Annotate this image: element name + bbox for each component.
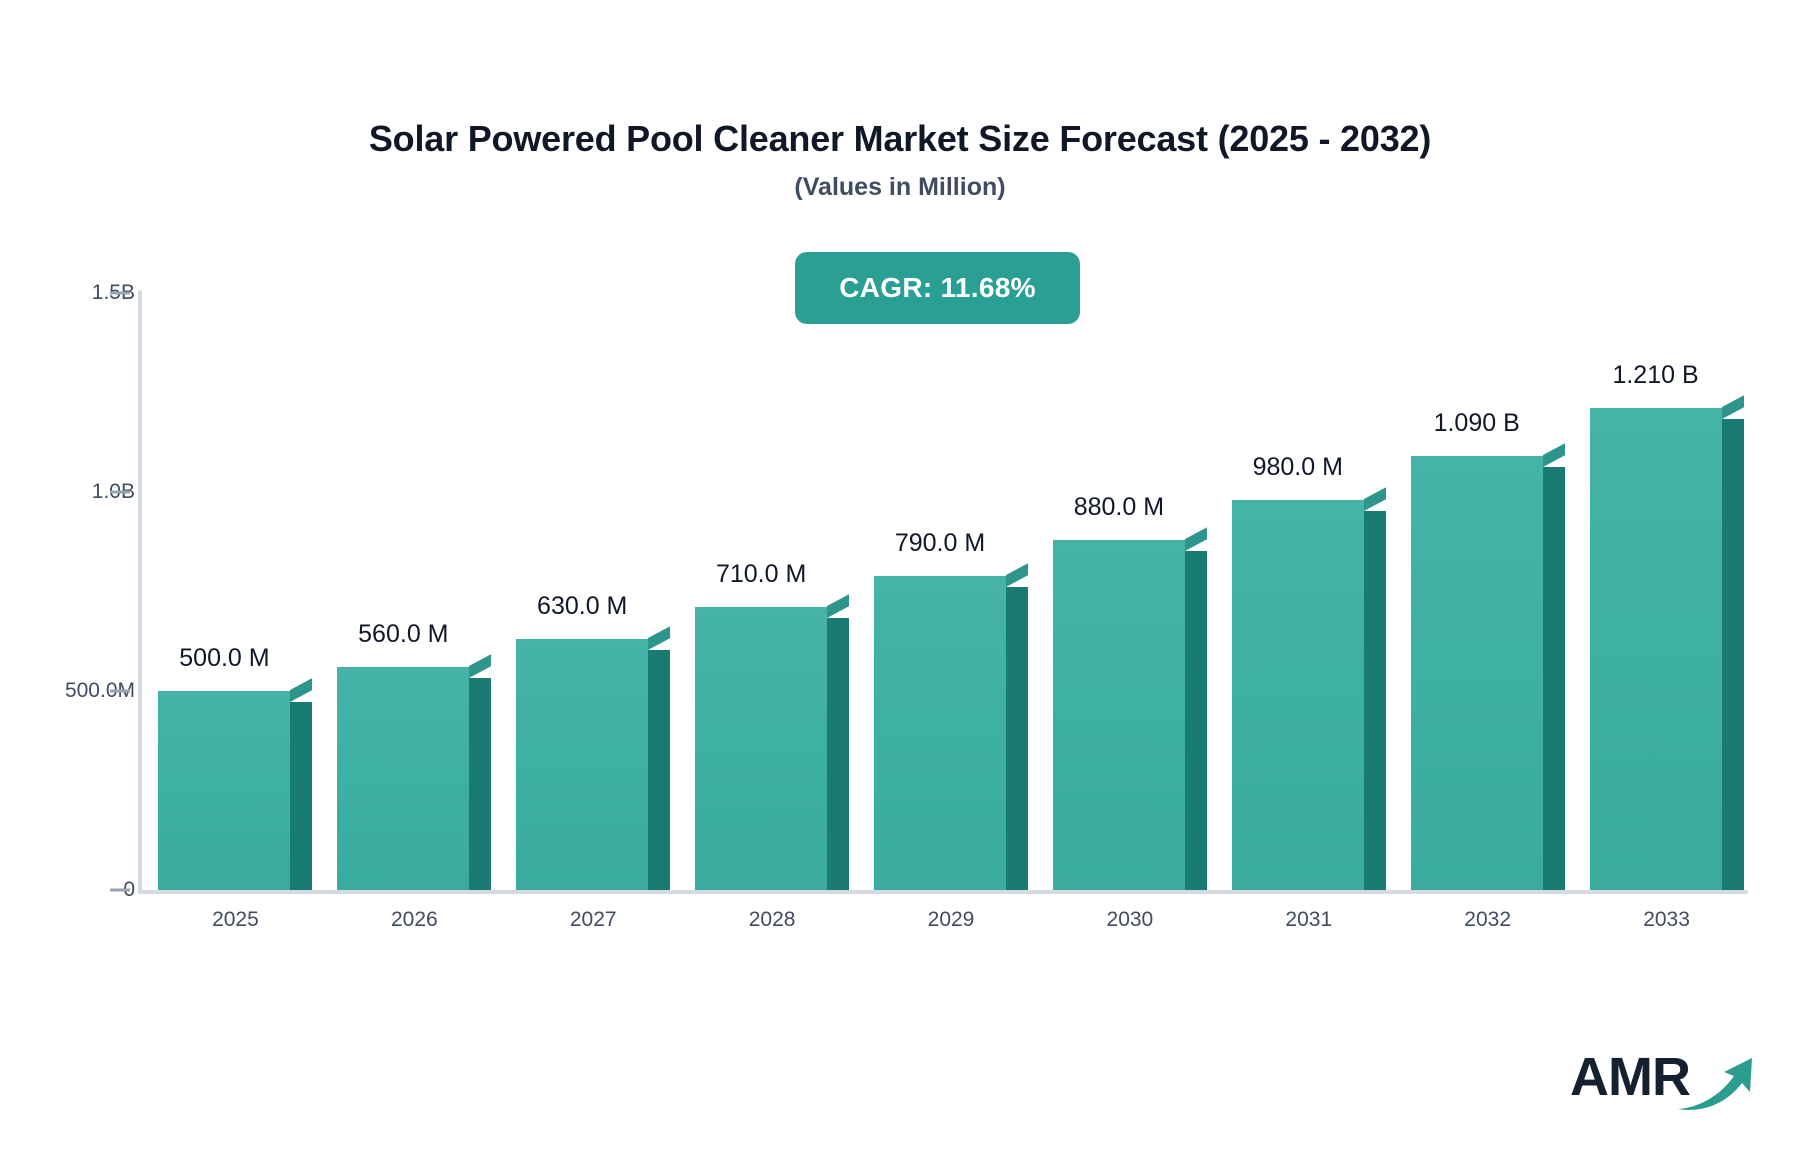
y-axis-line bbox=[138, 290, 142, 894]
bar-side-shadow bbox=[648, 650, 670, 890]
x-axis-label-2028: 2028 bbox=[712, 908, 832, 932]
bar-side-shadow bbox=[1185, 551, 1207, 890]
bar-face bbox=[1053, 540, 1185, 890]
bar-2026[interactable]: 560.0 M bbox=[337, 667, 469, 890]
amr-logo-text: AMR bbox=[1570, 1050, 1690, 1104]
bar-value-label: 500.0 M bbox=[128, 644, 320, 673]
y-axis-tick-mark bbox=[110, 491, 130, 494]
bar-2030[interactable]: 880.0 M bbox=[1053, 540, 1185, 890]
x-axis-label-2029: 2029 bbox=[891, 908, 1011, 932]
x-axis-label-2030: 2030 bbox=[1070, 908, 1190, 932]
bar-value-label: 790.0 M bbox=[844, 529, 1036, 558]
y-axis-tick-mark bbox=[110, 889, 130, 892]
bar-face bbox=[1232, 500, 1364, 890]
bar-top-bevel bbox=[290, 678, 312, 702]
amr-logo: AMR bbox=[1570, 1044, 1760, 1116]
bar-face bbox=[695, 607, 827, 890]
growth-arrow-icon bbox=[1676, 1052, 1760, 1114]
bar-value-label: 630.0 M bbox=[486, 592, 678, 621]
bar-2028[interactable]: 710.0 M bbox=[695, 607, 827, 890]
x-axis-label-2031: 2031 bbox=[1249, 908, 1369, 932]
bar-value-label: 560.0 M bbox=[307, 620, 499, 649]
x-axis-label-2026: 2026 bbox=[354, 908, 474, 932]
bar-2031[interactable]: 980.0 M bbox=[1232, 500, 1364, 890]
bar-side-shadow bbox=[1006, 587, 1028, 890]
y-axis-tick-mark bbox=[110, 292, 130, 295]
bar-2032[interactable]: 1.090 B bbox=[1411, 456, 1543, 890]
bar-face bbox=[158, 691, 290, 890]
x-axis-label-2025: 2025 bbox=[175, 908, 295, 932]
bar-top-bevel bbox=[648, 627, 670, 651]
bar-top-bevel bbox=[1543, 443, 1565, 467]
bar-side-shadow bbox=[469, 678, 491, 890]
x-axis-label-2027: 2027 bbox=[533, 908, 653, 932]
bar-top-bevel bbox=[1364, 487, 1386, 511]
bar-side-shadow bbox=[1722, 419, 1744, 890]
bar-value-label: 980.0 M bbox=[1202, 453, 1394, 482]
bar-top-bevel bbox=[1722, 396, 1744, 420]
bar-top-bevel bbox=[827, 595, 849, 619]
bar-value-label: 880.0 M bbox=[1023, 493, 1215, 522]
bar-2033[interactable]: 1.210 B bbox=[1590, 408, 1722, 890]
bar-side-shadow bbox=[1364, 511, 1386, 890]
bar-face bbox=[1590, 408, 1722, 890]
x-axis-label-2033: 2033 bbox=[1607, 908, 1727, 932]
x-axis-line bbox=[138, 890, 1748, 894]
bar-value-label: 710.0 M bbox=[665, 560, 857, 589]
bar-side-shadow bbox=[827, 618, 849, 890]
bar-2025[interactable]: 500.0 M bbox=[158, 691, 290, 890]
bar-value-label: 1.090 B bbox=[1381, 409, 1573, 438]
bar-side-shadow bbox=[1543, 467, 1565, 890]
x-axis-label-2032: 2032 bbox=[1428, 908, 1548, 932]
bar-top-bevel bbox=[1006, 563, 1028, 587]
bar-2027[interactable]: 630.0 M bbox=[516, 639, 648, 890]
y-axis-tick-mark bbox=[110, 690, 130, 693]
bar-face bbox=[337, 667, 469, 890]
chart-plot-area: 0500.0M1.0B1.5B 500.0 M560.0 M630.0 M710… bbox=[0, 0, 1800, 1156]
bar-face bbox=[874, 576, 1006, 890]
bar-top-bevel bbox=[1185, 527, 1207, 551]
bar-value-label: 1.210 B bbox=[1560, 361, 1752, 390]
bar-2029[interactable]: 790.0 M bbox=[874, 576, 1006, 890]
chart-page: Solar Powered Pool Cleaner Market Size F… bbox=[0, 0, 1800, 1156]
bar-top-bevel bbox=[469, 654, 491, 678]
bar-face bbox=[516, 639, 648, 890]
bar-face bbox=[1411, 456, 1543, 890]
bar-side-shadow bbox=[290, 702, 312, 890]
